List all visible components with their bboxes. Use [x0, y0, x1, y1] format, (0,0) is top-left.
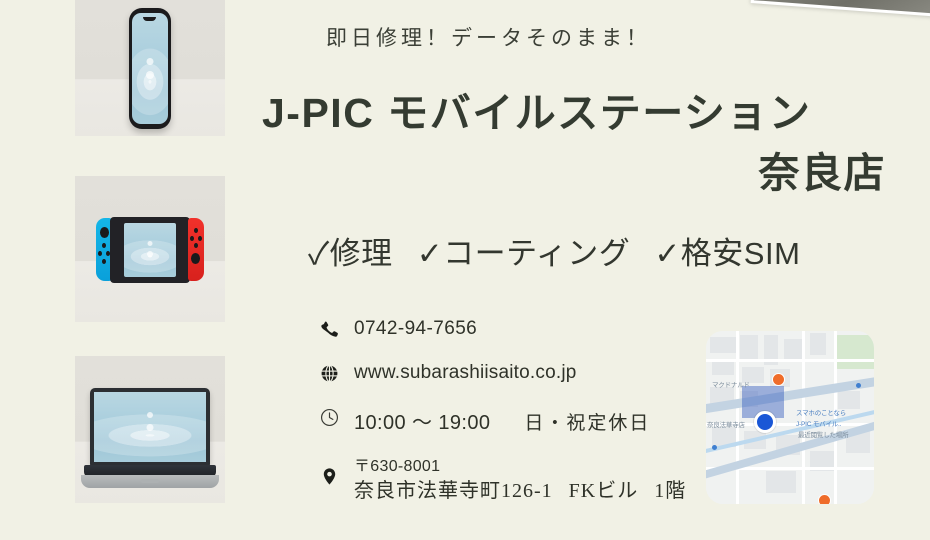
- map-block: [710, 337, 736, 353]
- game-console-photo: [75, 176, 225, 322]
- address-line: 奈良市法華寺町126-1FKビル1階: [354, 477, 686, 506]
- map-road: [736, 331, 739, 504]
- service-item-repair: ✓修理: [308, 236, 393, 271]
- map-poi-restaurant[interactable]: [772, 373, 785, 386]
- dpad-left: [98, 251, 102, 256]
- hours-text: 10:00 ～ 19:00日・祝定休日: [354, 406, 650, 435]
- map-block: [712, 361, 734, 375]
- map-block: [740, 335, 758, 361]
- address-floor: 1階: [654, 480, 686, 502]
- button-b: [194, 243, 198, 248]
- laptop-screen: [94, 392, 206, 461]
- joycon-right: [188, 218, 204, 281]
- smartphone-device: [129, 8, 171, 129]
- service-item-coating: ✓コーティング: [417, 236, 631, 271]
- contact-row-website[interactable]: www.subarashiisaito.co.jp: [320, 362, 720, 384]
- map-road: [706, 359, 874, 362]
- smartphone-photo: [75, 0, 225, 136]
- water-drop: [146, 424, 153, 431]
- smartphone-notch: [143, 17, 156, 21]
- address-street: 奈良市法華寺町126-1: [354, 480, 553, 502]
- laptop-lid: [90, 388, 210, 466]
- water-drop: [146, 58, 153, 65]
- phone-icon: [320, 318, 354, 339]
- contact-row-phone[interactable]: 0742-94-7656: [320, 318, 720, 340]
- map-poi-restaurant[interactable]: [818, 494, 831, 504]
- map-block: [810, 333, 826, 355]
- map-poi-dot: [856, 383, 861, 388]
- map-block: [784, 339, 804, 359]
- location-pin-icon: [320, 457, 354, 486]
- button-x: [194, 228, 198, 233]
- clock-icon: [320, 406, 354, 427]
- location-map[interactable]: マクドナルド 奈良法華寺店 スマホのことなら J-PIC モバイル.. 最近閲覧…: [706, 331, 874, 504]
- map-label: スマホのことなら: [796, 407, 846, 417]
- contact-row-hours: 10:00 ～ 19:00日・祝定休日: [320, 406, 720, 435]
- corner-photo-image: [754, 0, 930, 14]
- smartphone-screen: [132, 13, 168, 124]
- poster-canvas: 即日修理！データそのまま！ J-PIC モバイルステーション 奈良店 ✓修理✓コ…: [0, 0, 930, 540]
- corner-photo-decoration: [751, 0, 930, 17]
- water-drop: [147, 412, 153, 418]
- laptop-photo: [75, 356, 225, 503]
- service-item-sim: ✓格安SIM: [654, 236, 800, 271]
- switch-console-body: [110, 217, 190, 283]
- website-url: www.subarashiisaito.co.jp: [354, 362, 577, 384]
- map-poi-dot: [712, 445, 717, 450]
- dpad-up: [102, 243, 106, 248]
- globe-icon: [320, 362, 354, 383]
- address-building: FKビル: [569, 480, 639, 502]
- button-y: [190, 236, 194, 241]
- map-label: J-PIC モバイル..: [796, 418, 841, 428]
- current-location-marker[interactable]: [754, 411, 776, 433]
- nintendo-switch-device: [96, 217, 204, 283]
- postal-code: 〒630-8001: [354, 457, 686, 477]
- switch-screen: [124, 223, 177, 277]
- page-title-branch: 奈良店: [262, 139, 886, 199]
- opening-hours: 10:00 ～ 19:00: [354, 406, 490, 435]
- button-a: [198, 236, 202, 241]
- phone-number: 0742-94-7656: [354, 318, 477, 340]
- closed-days: 日・祝定休日: [524, 408, 650, 435]
- water-drop: [147, 241, 152, 246]
- contact-row-address: 〒630-8001 奈良市法華寺町126-1FKビル1階: [320, 457, 720, 506]
- contact-info: 0742-94-7656 www.subarashiisaito.co.jp: [320, 318, 720, 506]
- map-park: [834, 335, 874, 369]
- map-label: マクドナルド: [712, 379, 750, 389]
- map-label: 奈良法華寺店: [707, 419, 745, 429]
- water-drop: [147, 251, 153, 257]
- map-label: 最近閲覧した場所: [798, 429, 848, 439]
- tagline: 即日修理！データそのまま！: [326, 22, 651, 52]
- dpad-down: [102, 259, 106, 264]
- water-drop: [146, 71, 154, 79]
- address-text: 〒630-8001 奈良市法華寺町126-1FKビル1階: [354, 457, 686, 506]
- joycon-right-stick: [191, 253, 200, 264]
- map-block: [766, 471, 796, 493]
- laptop-trackpad: [141, 479, 159, 483]
- services-list: ✓修理✓コーティング✓格安SIM: [308, 228, 800, 273]
- joycon-left-stick: [100, 227, 109, 238]
- page-title: J-PIC モバイルステーション: [262, 84, 886, 142]
